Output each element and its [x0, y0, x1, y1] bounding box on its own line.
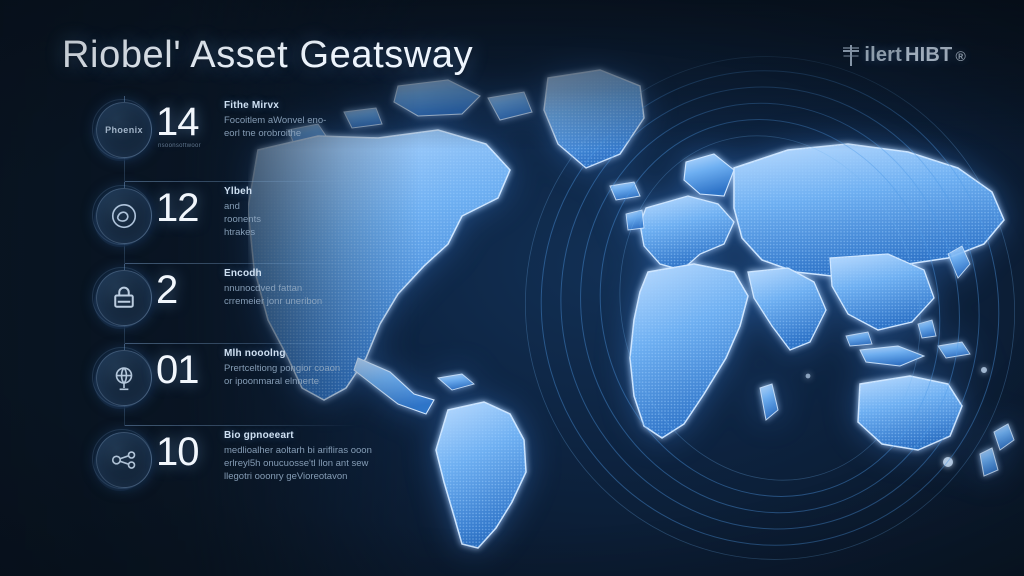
stat-number-caption: nsoonsoftwoor [158, 143, 228, 149]
globe-network-icon [109, 363, 139, 393]
list-item[interactable]: 10 Bio gpnoeeart medlioalher aoltarh bi … [96, 426, 376, 506]
stat-badge-5[interactable] [96, 432, 152, 488]
list-item[interactable]: Phoenix 14 nsoonsoftwoor Fithe Mirvx Foc… [96, 96, 376, 182]
padlock-icon [109, 283, 139, 313]
stat-list: Phoenix 14 nsoonsoftwoor Fithe Mirvx Foc… [96, 96, 376, 506]
stat-number: 10 [156, 430, 218, 474]
stat-body: nnunocdved fattan crremeier jonr uneribo… [224, 282, 384, 308]
brand-name: HIBT [905, 44, 952, 67]
list-item[interactable]: 12 Ylbeh and roonents htrakes [96, 182, 376, 264]
registered-icon: ® [955, 48, 966, 64]
stat-body: and roonents htrakes [224, 200, 384, 239]
antenna-tower-icon [843, 45, 860, 66]
stat-number: 2 [156, 268, 218, 312]
phoenix-badge-icon: Phoenix [105, 125, 143, 135]
stat-heading: Ylbeh [224, 186, 384, 197]
list-item[interactable]: 01 Mlh nooolng Prertceltiong pongior coa… [96, 344, 376, 426]
brand-prefix: ilert [864, 44, 902, 67]
stat-number: 14 [156, 100, 218, 144]
stat-body: Focoitlem aWonvel eno- eorl tne orobroit… [224, 114, 384, 140]
stat-number: 01 [156, 348, 218, 392]
stat-heading: Fithe Mirvx [224, 100, 384, 111]
stat-body: Prertceltiong pongior coaon or ipoonmara… [224, 362, 384, 388]
infographic-banner: Riobel' Asset Geatsway ilert HIBT ® Phoe… [0, 0, 1024, 576]
stat-heading: Bio gpnoeeart [224, 430, 384, 441]
shield-swirl-icon [109, 201, 139, 231]
stat-body: medlioalher aoltarh bi arifliras ooon er… [224, 444, 384, 483]
stat-number: 12 [156, 186, 218, 230]
stat-badge-3[interactable] [96, 270, 152, 326]
stat-badge-2[interactable] [96, 188, 152, 244]
list-item[interactable]: 2 Encodh nnunocdved fattan crremeier jon… [96, 264, 376, 344]
stat-badge-4[interactable] [96, 350, 152, 406]
page-title: Riobel' Asset Geatsway [62, 34, 473, 77]
brand-logo: ilert HIBT ® [843, 44, 966, 67]
stat-heading: Encodh [224, 268, 384, 279]
stat-badge-1[interactable]: Phoenix [96, 102, 152, 158]
nodes-link-icon [109, 445, 139, 475]
stat-heading: Mlh nooolng [224, 348, 384, 359]
